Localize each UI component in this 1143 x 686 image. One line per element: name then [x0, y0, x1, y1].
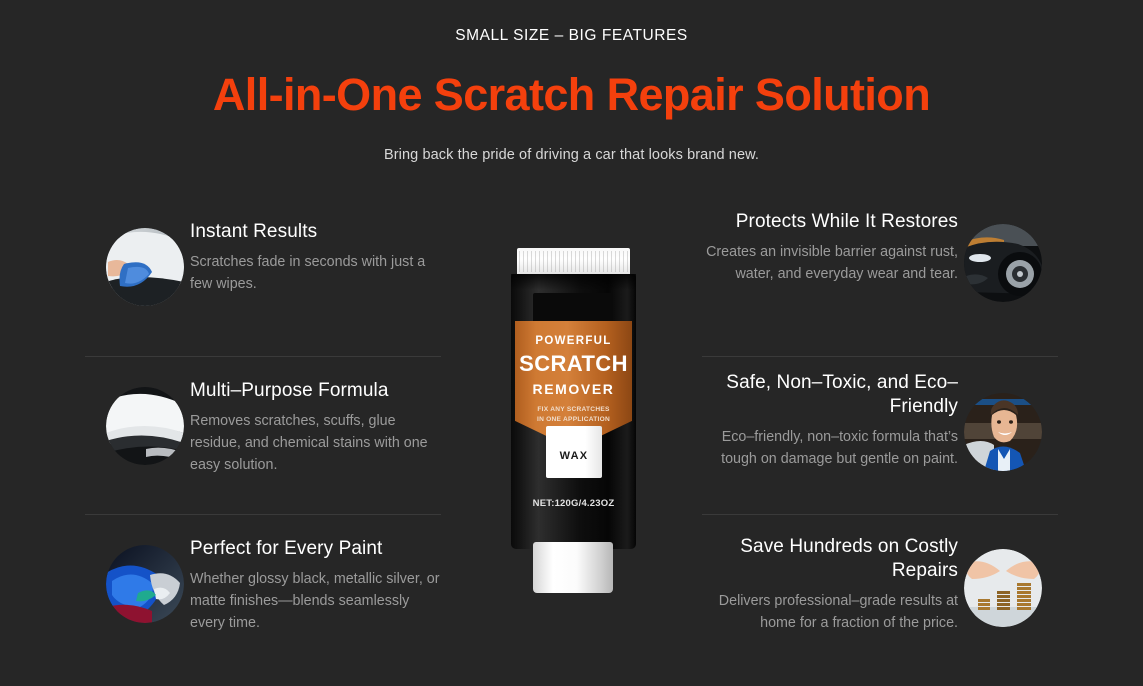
- page-title: All-in-One Scratch Repair Solution: [0, 71, 1143, 118]
- feature-title: Perfect for Every Paint: [190, 537, 441, 561]
- feature-title: Safe, Non–Toxic, and Eco–Friendly: [702, 371, 958, 419]
- feature-description: Scratches fade in seconds with just a fe…: [190, 251, 441, 295]
- feature-description: Delivers professional–grade results at h…: [702, 590, 958, 634]
- tube-cap: [517, 248, 630, 276]
- features-column-right: Protects While It Restores Creates an in…: [702, 198, 1058, 672]
- feature-item: Save Hundreds on Costly Repairs Delivers…: [702, 514, 1058, 672]
- label-remover: REMOVER: [515, 381, 632, 397]
- feature-title: Save Hundreds on Costly Repairs: [702, 535, 958, 583]
- eyebrow-text: SMALL SIZE – BIG FEATURES: [0, 27, 1143, 45]
- label-fine-line-2: IN ONE APPLICATION: [515, 415, 632, 425]
- feature-item: Perfect for Every Paint Whether glossy b…: [85, 514, 441, 672]
- feature-title: Instant Results: [190, 220, 441, 244]
- hero-header: SMALL SIZE – BIG FEATURES All-in-One Scr…: [0, 0, 1143, 163]
- feature-description: Creates an invisible barrier against rus…: [702, 241, 958, 285]
- feature-description: Removes scratches, scuffs, glue residue,…: [190, 410, 441, 476]
- label-scratch: SCRATCH: [515, 353, 632, 375]
- feature-item: Safe, Non–Toxic, and Eco–Friendly Eco–fr…: [702, 356, 1058, 514]
- label-powerful: POWERFUL: [515, 335, 632, 347]
- tube-shoulder: [511, 274, 636, 290]
- page-subtitle: Bring back the pride of driving a car th…: [0, 147, 1143, 163]
- feature-description: Eco–friendly, non–toxic formula that’s t…: [702, 426, 958, 470]
- net-weight-text: NET:120G/4.23OZ: [511, 498, 636, 509]
- feature-item: Multi–Purpose Formula Removes scratches,…: [85, 356, 441, 514]
- feature-item: Protects While It Restores Creates an in…: [702, 198, 1058, 356]
- wax-badge: WAX: [546, 426, 602, 478]
- feature-item: Instant Results Scratches fade in second…: [85, 198, 441, 356]
- wax-label: WAX: [560, 450, 589, 462]
- product-image: POWERFUL SCRATCH REMOVER FIX ANY SCRATCH…: [511, 248, 636, 593]
- feature-title: Multi–Purpose Formula: [190, 379, 441, 403]
- feature-title: Protects While It Restores: [702, 210, 958, 234]
- features-column-left: Instant Results Scratches fade in second…: [85, 198, 441, 672]
- label-fine-line-1: FIX ANY SCRATCHES: [515, 405, 632, 415]
- feature-description: Whether glossy black, metallic silver, o…: [190, 568, 441, 634]
- tube-base: [533, 542, 613, 593]
